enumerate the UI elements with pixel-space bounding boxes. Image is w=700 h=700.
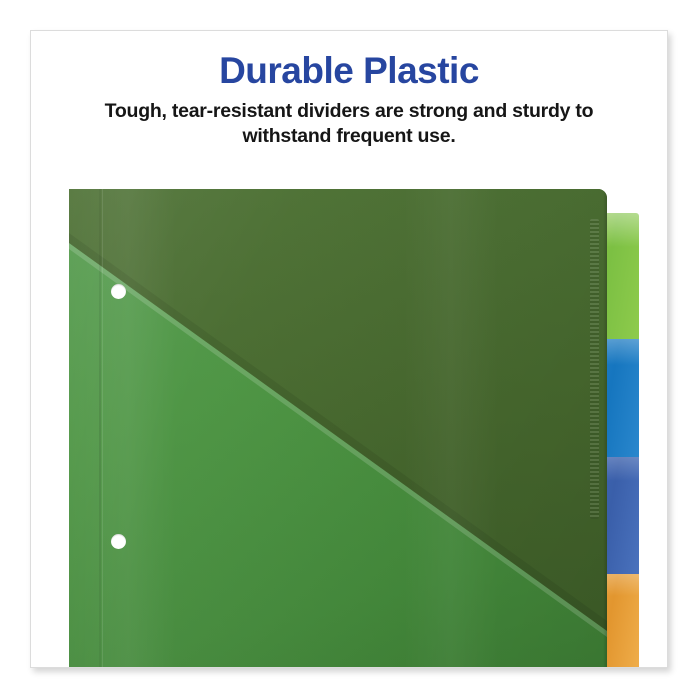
product-feature-card: Durable Plastic Tough, tear-resistant di…	[30, 30, 668, 668]
divider-sheet	[69, 189, 607, 668]
headline-block: Durable Plastic Tough, tear-resistant di…	[31, 49, 667, 149]
page-subtitle: Tough, tear-resistant dividers are stron…	[69, 99, 629, 149]
punch-hole-bottom	[111, 534, 126, 549]
reinforced-edge-strip	[590, 219, 599, 519]
sheet-right-edge-shade	[603, 189, 607, 668]
page-title: Durable Plastic	[31, 49, 667, 93]
binding-seam-highlight	[102, 189, 103, 668]
punch-hole-top	[111, 284, 126, 299]
binding-seam	[99, 189, 101, 668]
